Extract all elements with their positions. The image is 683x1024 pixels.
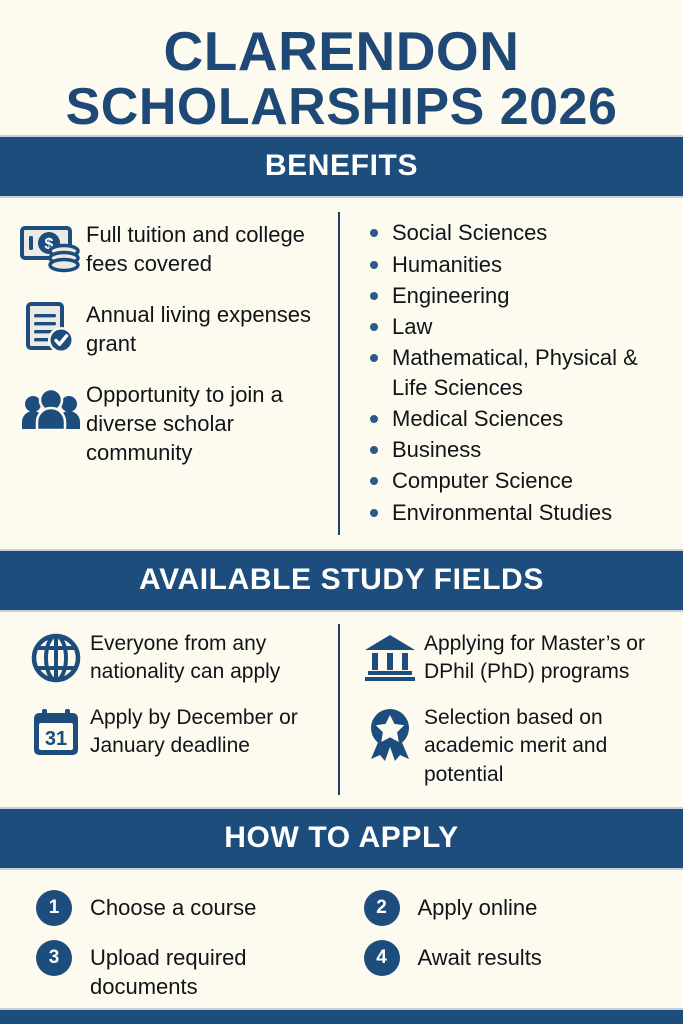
globe-icon xyxy=(22,630,90,692)
list-item: 1 Choose a course xyxy=(16,890,340,926)
list-item-label: Everyone from any nationality can apply xyxy=(90,630,328,687)
list-item: Humanities xyxy=(366,250,673,279)
study-fields-list: Social Sciences Humanities Engineering L… xyxy=(340,212,683,535)
page-title: CLARENDON SCHOLARSHIPS 2026 xyxy=(0,0,683,135)
section-heading-study-fields: AVAILABLE STUDY FIELDS xyxy=(0,549,683,612)
section-heading-benefits: BENEFITS xyxy=(0,135,683,198)
list-item: 2 Apply online xyxy=(344,890,668,926)
document-check-icon xyxy=(16,298,86,360)
list-item: Mathematical, Physical & Life Sciences xyxy=(366,343,673,402)
step-label: Await results xyxy=(418,940,542,973)
list-item-label: Apply by December or January deadline xyxy=(90,704,328,761)
list-item: 4 Await results xyxy=(344,940,668,1001)
list-item: Engineering xyxy=(366,281,673,310)
title-line-1: CLARENDON xyxy=(18,22,665,80)
step-label: Apply online xyxy=(418,890,538,923)
fields-bullet-list: Social Sciences Humanities Engineering L… xyxy=(366,218,673,527)
calendar-icon: 31 xyxy=(22,704,90,766)
calendar-day-label: 31 xyxy=(45,728,67,750)
list-item-label: Applying for Master’s or DPhil (PhD) pro… xyxy=(424,630,673,687)
people-group-icon xyxy=(16,378,86,440)
steps-grid: 1 Choose a course 2 Apply online 3 Uploa… xyxy=(16,890,667,1001)
step-number-badge: 3 xyxy=(36,940,72,976)
step-number-badge: 4 xyxy=(364,940,400,976)
step-number-badge: 1 xyxy=(36,890,72,926)
eligibility-right-list: Applying for Master’s or DPhil (PhD) pro… xyxy=(340,624,683,795)
list-item-label: Selection based on academic merit and po… xyxy=(424,704,673,789)
list-item: Business xyxy=(366,435,673,464)
list-item: Law xyxy=(366,312,673,341)
footer-band xyxy=(0,1008,683,1024)
infographic-poster: CLARENDON SCHOLARSHIPS 2026 BENEFITS $ xyxy=(0,0,683,1024)
list-item: 31 Apply by December or January deadline xyxy=(22,704,328,766)
list-item: Medical Sciences xyxy=(366,404,673,433)
eligibility-section: Everyone from any nationality can apply … xyxy=(0,612,683,807)
list-item-label: Full tuition and college fees covered xyxy=(86,218,328,278)
list-item: 3 Upload required documents xyxy=(16,940,340,1001)
list-item: Selection based on academic merit and po… xyxy=(356,704,673,789)
award-medal-icon xyxy=(356,704,424,766)
list-item-label: Opportunity to join a diverse scholar co… xyxy=(86,378,328,467)
list-item: Annual living expenses grant xyxy=(16,298,328,360)
list-item: $ Full tuition and college fees covered xyxy=(16,218,328,280)
list-item: Everyone from any nationality can apply xyxy=(22,630,328,692)
list-item: Applying for Master’s or DPhil (PhD) pro… xyxy=(356,630,673,692)
step-number-badge: 2 xyxy=(364,890,400,926)
list-item-label: Annual living expenses grant xyxy=(86,298,328,358)
list-item: Social Sciences xyxy=(366,218,673,247)
list-item: Computer Science xyxy=(366,466,673,495)
section-heading-how-to-apply: HOW TO APPLY xyxy=(0,807,683,870)
title-line-2: SCHOLARSHIPS 2026 xyxy=(18,80,665,135)
benefits-list: $ Full tuition and college fees covered xyxy=(0,212,338,535)
eligibility-left-list: Everyone from any nationality can apply … xyxy=(0,624,338,795)
step-label: Upload required documents xyxy=(90,940,340,1001)
how-to-apply-section: 1 Choose a course 2 Apply online 3 Uploa… xyxy=(0,870,683,1019)
institution-icon xyxy=(356,630,424,692)
list-item: Opportunity to join a diverse scholar co… xyxy=(16,378,328,467)
money-icon: $ xyxy=(16,218,86,280)
benefits-section: $ Full tuition and college fees covered xyxy=(0,198,683,549)
step-label: Choose a course xyxy=(90,890,256,923)
list-item: Environmental Studies xyxy=(366,498,673,527)
